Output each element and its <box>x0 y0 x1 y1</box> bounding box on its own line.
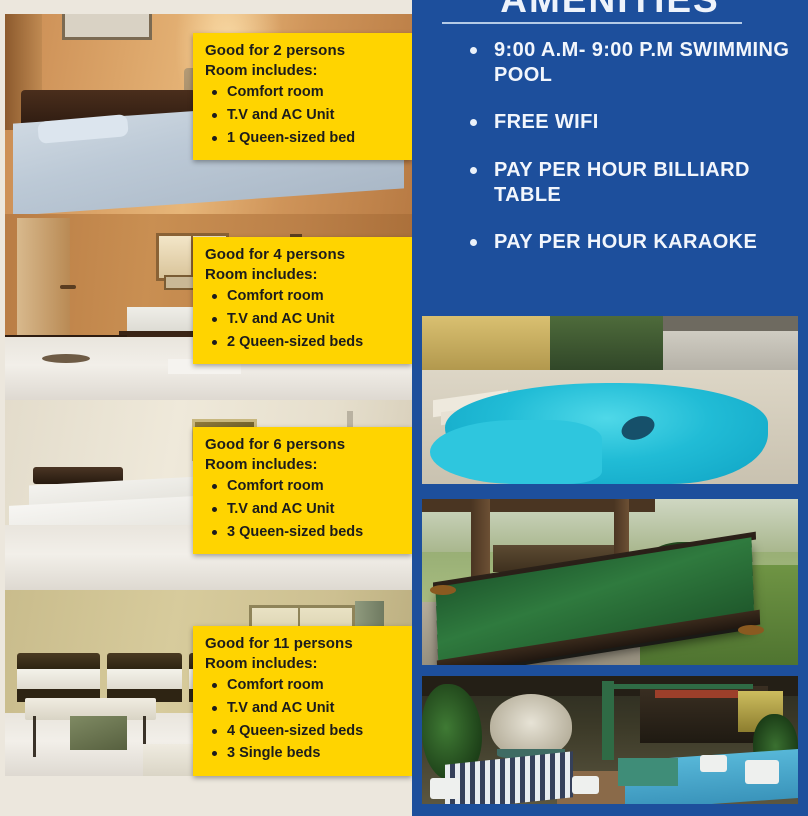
callout-feature-list: Comfort room T.V and AC Unit 2 Queen-siz… <box>205 285 398 353</box>
callout-feature-item: Comfort room <box>205 81 398 104</box>
amenity-item-swimming-pool: 9:00 A.M- 9:00 P.M SWIMMING POOL <box>464 38 804 88</box>
callout-feature-item: 2 Queen-sized beds <box>205 331 398 354</box>
callout-2-persons: Good for 2 persons Room includes: Comfor… <box>193 33 412 160</box>
callout-heading: Good for 4 persons <box>205 246 398 263</box>
callout-feature-item: T.V and AC Unit <box>205 498 398 521</box>
swimming-pool-photo <box>422 316 798 484</box>
amenities-title-clipped: AMENITIES <box>412 0 808 24</box>
callout-feature-item: T.V and AC Unit <box>205 697 398 720</box>
amenities-title: AMENITIES <box>412 0 808 22</box>
callout-heading: Good for 2 persons <box>205 42 398 59</box>
callout-feature-list: Comfort room T.V and AC Unit 4 Queen-siz… <box>205 674 398 765</box>
callout-subheading: Room includes: <box>205 655 398 672</box>
amenities-column: AMENITIES 9:00 A.M- 9:00 P.M SWIMMING PO… <box>412 0 808 816</box>
callout-subheading: Room includes: <box>205 456 398 473</box>
callout-feature-item: 3 Single beds <box>205 742 398 765</box>
callout-feature-item: T.V and AC Unit <box>205 308 398 331</box>
callout-heading: Good for 11 persons <box>205 635 398 652</box>
callout-heading: Good for 6 persons <box>205 436 398 453</box>
karaoke-garden-photo <box>422 676 798 804</box>
amenity-item-billiard-table: PAY PER HOUR BILLIARD TABLE <box>464 158 804 208</box>
callout-feature-item: Comfort room <box>205 475 398 498</box>
callout-feature-item: Comfort room <box>205 285 398 308</box>
resort-promo-poster: Good for 2 persons Room includes: Comfor… <box>0 0 808 816</box>
callout-subheading: Room includes: <box>205 62 398 79</box>
rooms-column: Good for 2 persons Room includes: Comfor… <box>0 0 412 816</box>
callout-feature-item: 3 Queen-sized beds <box>205 521 398 544</box>
callout-feature-list: Comfort room T.V and AC Unit 1 Queen-siz… <box>205 81 398 149</box>
callout-feature-item: Comfort room <box>205 674 398 697</box>
amenity-item-free-wifi: FREE WIFI <box>464 110 804 135</box>
callout-subheading: Room includes: <box>205 266 398 283</box>
callout-feature-item: T.V and AC Unit <box>205 104 398 127</box>
callout-11-persons: Good for 11 persons Room includes: Comfo… <box>193 626 412 776</box>
callout-6-persons: Good for 6 persons Room includes: Comfor… <box>193 427 412 554</box>
billiard-table-photo <box>422 499 798 665</box>
callout-feature-item: 4 Queen-sized beds <box>205 720 398 743</box>
amenities-list: 9:00 A.M- 9:00 P.M SWIMMING POOL FREE WI… <box>464 38 804 277</box>
callout-4-persons: Good for 4 persons Room includes: Comfor… <box>193 237 412 364</box>
callout-feature-item: 1 Queen-sized bed <box>205 127 398 150</box>
callout-feature-list: Comfort room T.V and AC Unit 3 Queen-siz… <box>205 475 398 543</box>
amenities-title-underline <box>442 22 742 24</box>
amenity-item-karaoke: PAY PER HOUR KARAOKE <box>464 230 804 255</box>
